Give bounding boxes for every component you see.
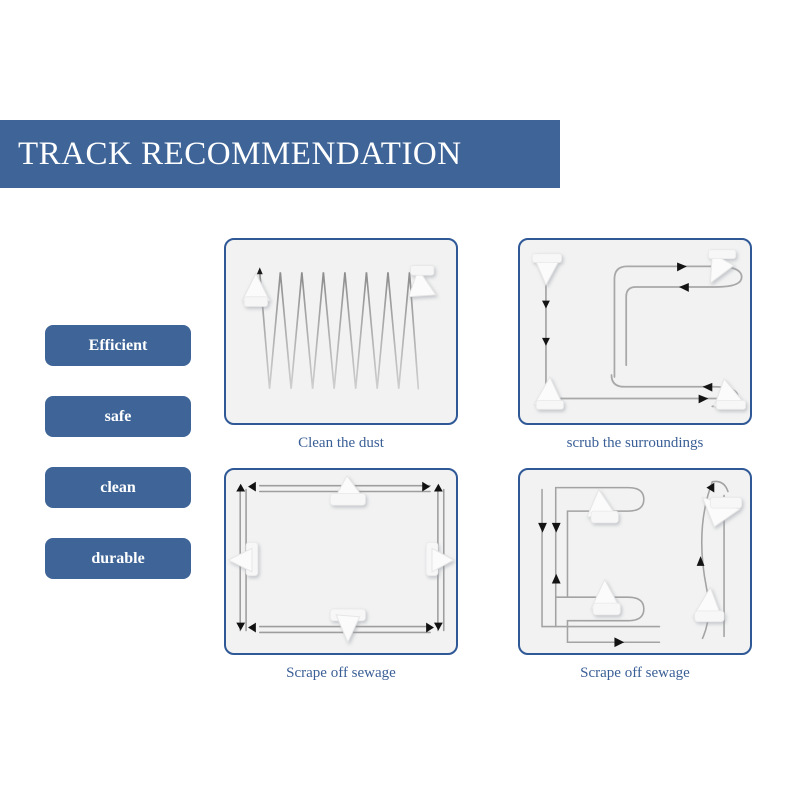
squeegee-tool-icon (228, 542, 257, 575)
arrow-head-icon (422, 482, 430, 492)
squeegee-tool-icon (587, 490, 618, 523)
panel-caption: Scrape off sewage (224, 665, 458, 682)
arrow-head-icon (552, 574, 561, 584)
feature-pill-list: Efficient safe clean durable (45, 325, 191, 609)
arrow-head-icon (699, 395, 709, 404)
arrow-head-icon (236, 623, 245, 631)
perimeter-track-diagram (520, 240, 750, 423)
panel-illustration-box (518, 468, 752, 655)
arrow-head-icon (434, 623, 443, 631)
feature-pill-efficient[interactable]: Efficient (45, 325, 191, 366)
arrow-head-icon (248, 482, 256, 492)
arrow-head-icon (257, 267, 263, 274)
squeegee-tool-icon (426, 542, 453, 575)
arrow-head-icon (706, 483, 714, 493)
arrow-head-icon (538, 523, 547, 533)
panel-caption: Scrape off sewage (518, 665, 752, 682)
arrow-head-icon (614, 637, 624, 647)
arrow-head-icon (434, 484, 443, 492)
squeegee-tool-icon (532, 254, 561, 285)
panel-scrape-off-sewage-right[interactable]: Scrape off sewage (518, 468, 752, 682)
feature-pill-label: durable (91, 550, 144, 568)
arrow-head-icon (542, 301, 550, 309)
serpentine-track-diagram (520, 470, 750, 653)
feature-pill-label: clean (100, 479, 136, 497)
squeegee-tool-icon (330, 476, 365, 505)
arrow-head-icon (542, 338, 550, 346)
panel-illustration-box (518, 238, 752, 425)
arrow-head-icon (426, 623, 434, 633)
feature-pill-clean[interactable]: clean (45, 467, 191, 508)
squeegee-tool-icon (693, 587, 724, 621)
squeegee-tool-icon (242, 273, 269, 306)
header-banner: TRACK RECOMMENDATION (0, 120, 560, 188)
feature-pill-label: safe (105, 408, 132, 426)
feature-pill-safe[interactable]: safe (45, 396, 191, 437)
panel-scrape-off-sewage-left[interactable]: Scrape off sewage (224, 468, 458, 682)
arrow-head-icon (679, 283, 689, 292)
page-title: TRACK RECOMMENDATION (0, 136, 462, 173)
squeegee-tool-icon (708, 250, 735, 283)
panel-illustration-box (224, 468, 458, 655)
panel-scrub-the-surroundings[interactable]: scrub the surroundings (518, 238, 752, 452)
arrow-head-icon (248, 623, 256, 633)
arrow-head-icon (703, 383, 713, 392)
arrow-head-icon (677, 263, 687, 272)
feature-pill-label: Efficient (89, 337, 148, 355)
rectangle-track-diagram (226, 470, 456, 653)
panel-grid: Clean the dust (224, 238, 740, 690)
squeegee-tool-icon (409, 265, 436, 296)
squeegee-tool-icon (703, 497, 742, 526)
panel-caption: Clean the dust (224, 435, 458, 452)
feature-pill-durable[interactable]: durable (45, 538, 191, 579)
panel-clean-the-dust[interactable]: Clean the dust (224, 238, 458, 452)
zigzag-track-diagram (226, 240, 456, 423)
squeegee-tool-icon (534, 377, 563, 409)
arrow-head-icon (236, 484, 245, 492)
panel-caption: scrub the surroundings (518, 435, 752, 452)
panel-illustration-box (224, 238, 458, 425)
arrow-head-icon (552, 523, 561, 533)
squeegee-tool-icon (330, 609, 365, 642)
squeegee-tool-icon (714, 379, 745, 409)
